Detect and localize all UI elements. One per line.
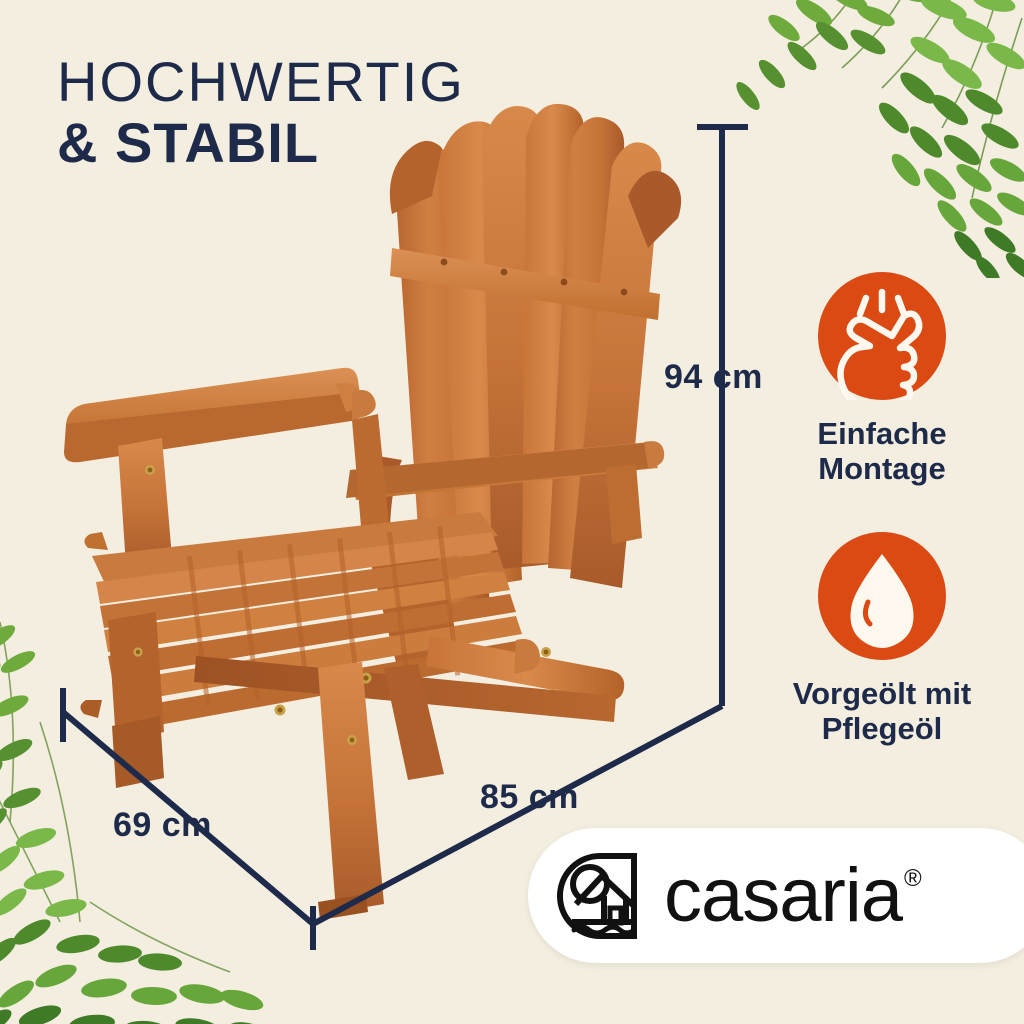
registered-trademark-symbol: ® (904, 864, 921, 894)
hand-shape (840, 314, 919, 400)
headline-line-1: HOCHWERTIG (57, 52, 465, 112)
feature-icon-circle (818, 532, 946, 660)
feature-badge-einfache-montage: Einfache Montage (757, 272, 1007, 486)
headline-line-2: & STABIL (57, 112, 465, 174)
casaria-house-sun-water-icon (554, 850, 646, 942)
feature-icon-circle (818, 272, 946, 400)
dimension-label-height: 94 cm (664, 358, 763, 397)
dimension-label-depth: 69 cm (113, 806, 212, 845)
drop-shape (851, 554, 914, 648)
brand-logo-panel: casaria® (528, 828, 1024, 963)
feature-label-line-1: Vorgeölt mit (757, 676, 1007, 711)
feature-badge-vorgeoelt: Vorgeölt mit Pflegeöl (757, 532, 1007, 746)
headline-block: HOCHWERTIG & STABIL (57, 52, 465, 174)
oil-drop-icon (818, 532, 946, 660)
feature-label-line-1: Einfache (757, 416, 1007, 451)
feature-label-line-2: Montage (757, 451, 1007, 486)
feature-label-line-2: Pflegeöl (757, 711, 1007, 746)
product-marketing-image: HOCHWERTIG & STABIL 94 cm 85 cm 69 cm (0, 0, 1024, 1024)
snapping-fingers-icon (818, 272, 946, 400)
brand-name: casaria (664, 858, 902, 934)
brand-wordmark: casaria® (664, 858, 921, 934)
dimension-label-width: 85 cm (480, 778, 579, 817)
